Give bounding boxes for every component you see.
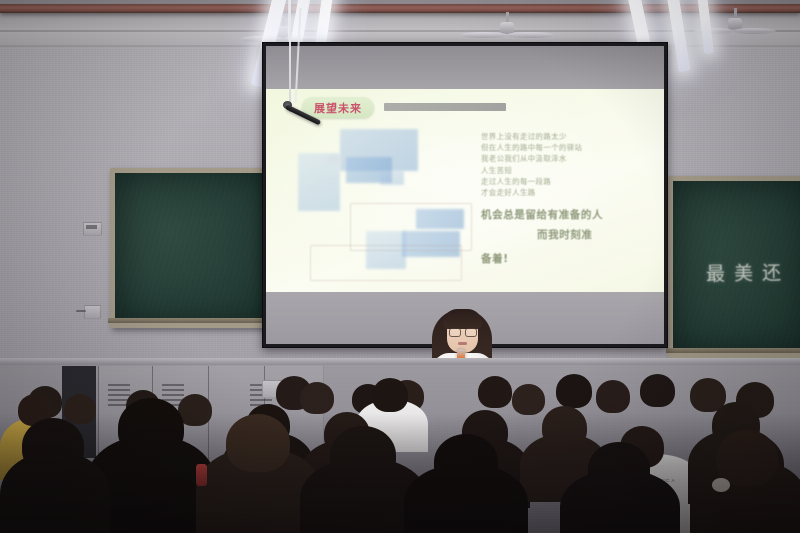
- audience-head: [434, 434, 498, 490]
- projection-screen: 展望未来 世界上没有走过的路太: [266, 46, 664, 344]
- slide-emphasis-line-1: 机会总是留给有准备的人: [481, 207, 656, 222]
- chalk-tray-left: [108, 318, 270, 323]
- screen-unlit-top: [266, 46, 664, 89]
- chalk-tray-right: [666, 348, 800, 353]
- slide-body-line-6: 才会走好人生路: [481, 187, 656, 198]
- blackboard-chalk-text: 最美还 时: [706, 257, 800, 287]
- eyeglasses-icon: [449, 328, 476, 335]
- slide-title: 展望未来: [314, 100, 362, 116]
- slide-emphasis-line-2: 而我时刻准: [537, 227, 656, 242]
- presenter-fringe: [443, 309, 482, 329]
- slide-body-text: 世界上没有走过的路太少 但在人生的路中每一个的驿站 我老公我们从中汲取泽水 人生…: [481, 131, 656, 266]
- slide-body-line-4: 人生苦短: [481, 165, 656, 176]
- red-bottle: [196, 464, 207, 486]
- hair-scrunchie: [712, 478, 730, 492]
- slide-body-line-1: 世界上没有走过的路太少: [481, 131, 656, 142]
- audience-head: [596, 380, 630, 413]
- audience-head: [640, 374, 675, 407]
- slide-body-line-2: 但在人生的路中每一个的驿站: [481, 142, 656, 153]
- slide-emphasis-line-3: 备着!: [481, 251, 656, 266]
- hanging-mic-cable: [289, 0, 291, 112]
- classroom-photo-scene: 最美还 时 展望未来: [0, 0, 800, 533]
- projected-slide: 展望未来 世界上没有走过的路太: [266, 89, 664, 292]
- slide-title-pill: 展望未来: [302, 97, 374, 118]
- audience-head: [330, 426, 396, 484]
- audience-head: [64, 394, 96, 424]
- slide-body-line-3: 我老公我们从中汲取泽水: [481, 153, 656, 164]
- audience-head: [716, 430, 778, 486]
- wall-outlet-plate[interactable]: [84, 305, 101, 319]
- audience-head: [372, 378, 408, 412]
- projection-screen-frame: 展望未来 世界上没有走过的路太: [262, 42, 668, 348]
- slide-title-rule: [384, 103, 506, 111]
- blackboard-left: [110, 168, 276, 328]
- slide-body-line-5: 走过人生的每一段路: [481, 176, 656, 187]
- presenter-mouth: [458, 342, 467, 345]
- audience-head: [226, 414, 290, 472]
- audience-head: [556, 374, 592, 408]
- audience-head: [300, 382, 334, 414]
- audience-head: [542, 406, 587, 449]
- outlet-cord: [76, 310, 86, 312]
- audience-head: [22, 418, 84, 474]
- audience-head: [478, 376, 512, 408]
- audience-head: [512, 384, 545, 415]
- audience-head: [588, 442, 650, 496]
- wall-switch-slot: [86, 225, 97, 229]
- audience: BOOKS MUSIC A: [0, 360, 800, 533]
- slide-photo-collage: [298, 127, 488, 282]
- audience-head: [118, 398, 184, 458]
